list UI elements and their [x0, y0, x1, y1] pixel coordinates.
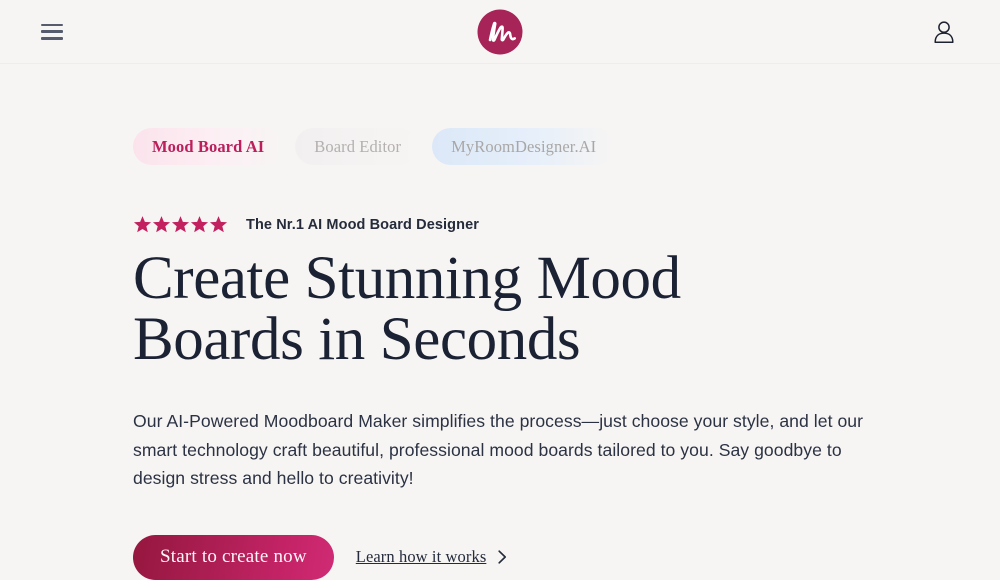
page-title: Create Stunning Mood Boards in Seconds	[133, 248, 833, 370]
hamburger-line-2	[41, 30, 63, 33]
cta-row: Start to create now Learn how it works	[133, 535, 1000, 580]
user-avatar-glyph	[933, 20, 955, 44]
star-rating	[133, 215, 228, 234]
rating-label: The Nr.1 AI Mood Board Designer	[246, 217, 479, 233]
product-tab-group: Mood Board AI Board Editor MyRoomDesigne…	[133, 128, 1000, 165]
learn-how-it-works-link[interactable]: Learn how it works	[356, 547, 509, 567]
hamburger-line-1	[41, 24, 63, 27]
star-filled-icon	[133, 215, 152, 234]
hero-description: Our AI-Powered Moodboard Maker simplifie…	[133, 407, 873, 493]
hamburger-menu-icon[interactable]	[41, 24, 63, 40]
logo-script-m-icon	[478, 9, 523, 54]
star-filled-icon	[152, 215, 171, 234]
learn-how-it-works-label: Learn how it works	[356, 547, 487, 567]
hamburger-line-3	[41, 37, 63, 40]
brand-monogram-logo[interactable]	[478, 9, 523, 54]
start-to-create-now-button[interactable]: Start to create now	[133, 535, 334, 580]
tab-board-editor[interactable]: Board Editor	[295, 128, 420, 165]
star-filled-icon	[171, 215, 190, 234]
star-filled-icon	[209, 215, 228, 234]
tab-mood-board-ai[interactable]: Mood Board AI	[133, 128, 283, 165]
rating-row: The Nr.1 AI Mood Board Designer	[133, 215, 1000, 234]
site-header	[0, 0, 1000, 64]
user-account-icon[interactable]	[931, 17, 957, 47]
tab-myroomdesigner-ai[interactable]: MyRoomDesigner.AI	[432, 128, 615, 165]
star-filled-icon	[190, 215, 209, 234]
hero-section: Mood Board AI Board Editor MyRoomDesigne…	[0, 64, 1000, 580]
